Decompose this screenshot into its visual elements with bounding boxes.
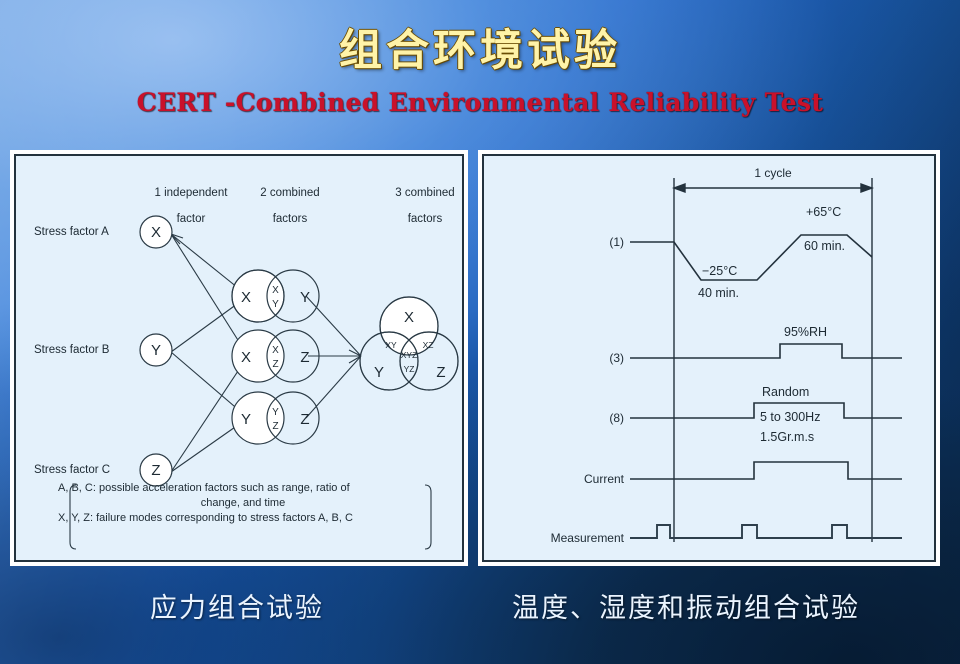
column-header-1-line2: factor (177, 213, 206, 225)
left-diagram-panel: X Y Z X Y X (10, 150, 468, 566)
legend-note-line-2: change, and time (58, 496, 428, 511)
column-header-2-line2: factors (273, 213, 308, 225)
column-header-3-line2: factors (408, 213, 443, 225)
column-header-2-line1: 2 combined (260, 187, 319, 199)
pair2-left: X (241, 349, 251, 366)
legend-note-line-3: X, Y, Z: failure modes corresponding to … (58, 511, 428, 526)
vibration-band-label: 5 to 300Hz (760, 410, 820, 424)
measurement-waveform (630, 525, 902, 538)
stress-combination-diagram: X Y Z X Y X (16, 156, 462, 560)
row-label-stress-factor-b: Stress factor B (34, 344, 109, 357)
pair2-overlap-top: X (272, 345, 279, 356)
cycle-label: 1 cycle (754, 166, 792, 180)
right-timing-panel: 1 cycle (1) +65°C 60 min. −25°C 40 min. … (478, 150, 940, 566)
row-label-stress-factor-c: Stress factor C (34, 464, 110, 477)
venn3-overlap-yz: YZ (404, 364, 415, 374)
temp-low-dwell-label: 40 min. (698, 286, 739, 300)
pair3-overlap-top: Y (272, 407, 279, 418)
label-row-current: Current (584, 472, 625, 486)
pair1-overlap-bottom: Y (272, 299, 279, 310)
test-profile-chart: 1 cycle (1) +65°C 60 min. −25°C 40 min. … (484, 156, 936, 562)
label-row-1: (1) (609, 235, 624, 249)
label-row-8: (8) (609, 411, 624, 425)
column-header-3: 3 combined factors (357, 174, 461, 239)
humidity-label: 95%RH (784, 325, 827, 339)
page-title: 组合环境试验 (0, 16, 960, 78)
humidity-waveform (630, 344, 902, 358)
pair1-overlap-top: X (272, 285, 279, 296)
pair1-right: Y (300, 289, 310, 306)
page-subtitle: CERT -Combined Environmental Reliability… (0, 88, 960, 117)
label-row-3: (3) (609, 351, 624, 365)
column-header-3-line1: 3 combined (395, 187, 454, 199)
venn3-bottom-right: Z (436, 364, 445, 381)
pair1-left: X (241, 289, 251, 306)
venn3-overlap-xy: XY (385, 340, 397, 350)
pair3-right: Z (300, 411, 309, 428)
pair3-left: Y (241, 411, 251, 428)
temp-high-dwell-label: 60 min. (804, 239, 845, 253)
venn3-top: X (404, 309, 414, 326)
temp-high-label: +65°C (806, 205, 841, 219)
right-panel-inner: 1 cycle (1) +65°C 60 min. −25°C 40 min. … (482, 154, 936, 562)
caption-right: 温度、湿度和振动组合试验 (512, 586, 860, 625)
column-header-1: 1 independent factor (120, 174, 230, 239)
vibration-level-label: 1.5Gr.m.s (760, 430, 814, 444)
slide-background: 组合环境试验 CERT -Combined Environmental Reli… (0, 0, 960, 664)
venn3-overlap-xyz: XYZ (401, 350, 418, 360)
pair2-right: Z (300, 349, 309, 366)
legend-note-line-1: A, B, C: possible acceleration factors s… (58, 481, 428, 496)
legend-note: A, B, C: possible acceleration factors s… (58, 481, 428, 526)
temp-low-label: −25°C (702, 264, 737, 278)
row-label-stress-factor-a: Stress factor A (34, 226, 109, 239)
left-panel-inner: X Y Z X Y X (14, 154, 464, 562)
venn3-bottom-left: Y (374, 364, 384, 381)
vibration-type-label: Random (762, 385, 809, 399)
column-header-1-line1: 1 independent (155, 187, 228, 199)
single-factor-z: Z (151, 462, 160, 479)
current-waveform (630, 462, 902, 479)
column-header-2: 2 combined factors (222, 174, 326, 239)
label-row-measurement: Measurement (551, 531, 625, 545)
pair3-overlap-bottom: Z (272, 421, 278, 432)
pair2-overlap-bottom: Z (272, 359, 278, 370)
single-factor-y: Y (151, 342, 161, 359)
caption-left: 应力组合试验 (150, 586, 324, 625)
venn3-overlap-xz: XZ (423, 340, 434, 350)
